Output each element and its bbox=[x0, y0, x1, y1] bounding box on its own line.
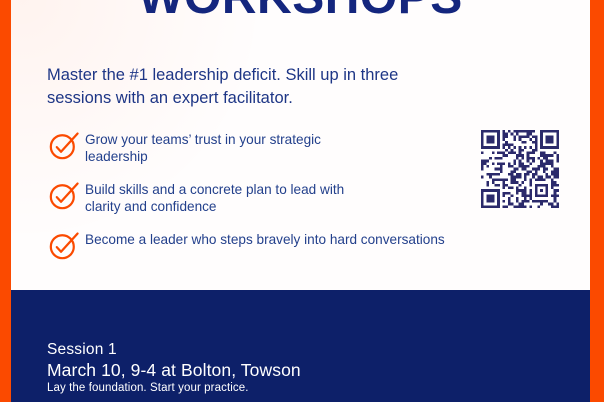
check-circle-icon bbox=[45, 228, 85, 266]
left-orange-border bbox=[0, 0, 11, 402]
list-item-text: Become a leader who steps bravely into h… bbox=[85, 228, 505, 249]
page-title: WORKSHOPS bbox=[11, 0, 590, 26]
qr-code[interactable] bbox=[481, 130, 559, 208]
benefit-list: Grow your teams’ trust in your strategic… bbox=[45, 128, 505, 278]
list-item: Build skills and a concrete plan to lead… bbox=[45, 178, 505, 216]
session-tagline: Lay the foundation. Start your practice. bbox=[47, 381, 301, 396]
list-item: Grow your teams’ trust in your strategic… bbox=[45, 128, 505, 166]
lead-paragraph: Master the #1 leadership deficit. Skill … bbox=[47, 64, 457, 110]
list-item-line-2: clarity and confidence bbox=[85, 199, 505, 216]
list-item-line-1: Grow your teams’ trust in your strategic bbox=[85, 132, 505, 149]
check-circle-icon bbox=[45, 128, 85, 166]
list-item-text: Grow your teams’ trust in your strategic… bbox=[85, 128, 505, 165]
workshop-flyer: WORKSHOPS Master the #1 leadership defic… bbox=[0, 0, 604, 402]
lead-line-2: sessions with an expert facilitator. bbox=[47, 87, 457, 110]
session-info: Session 1 March 10, 9-4 at Bolton, Towso… bbox=[47, 340, 301, 396]
list-item: Become a leader who steps bravely into h… bbox=[45, 228, 505, 266]
session-label: Session 1 bbox=[47, 340, 301, 359]
session-details: March 10, 9-4 at Bolton, Towson bbox=[47, 359, 301, 381]
lead-line-1: Master the #1 leadership deficit. Skill … bbox=[47, 64, 457, 87]
right-orange-border bbox=[590, 0, 604, 402]
qr-code-image bbox=[481, 130, 559, 208]
check-circle-icon bbox=[45, 178, 85, 216]
list-item-line-1: Build skills and a concrete plan to lead… bbox=[85, 182, 505, 199]
session-footer: Session 1 March 10, 9-4 at Bolton, Towso… bbox=[11, 290, 590, 402]
list-item-text: Build skills and a concrete plan to lead… bbox=[85, 178, 505, 215]
list-item-line-2: leadership bbox=[85, 149, 505, 166]
list-item-line-1: Become a leader who steps bravely into h… bbox=[85, 232, 505, 249]
